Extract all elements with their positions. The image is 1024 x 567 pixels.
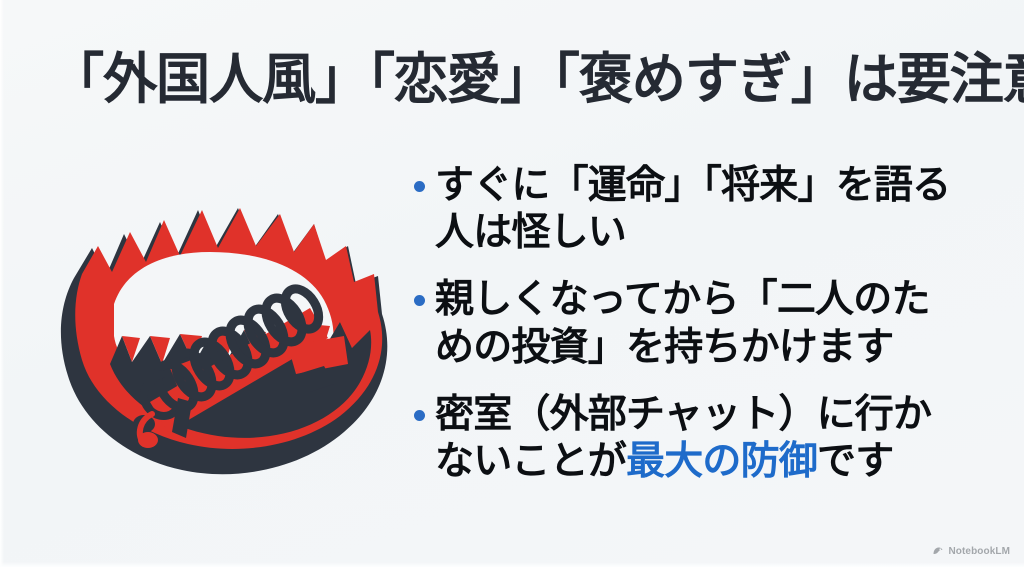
bear-trap-illustration xyxy=(52,188,402,482)
list-item: すぐに「運命」「将来」を語る人は怪しい xyxy=(414,162,1000,256)
bullet-text-1: すぐに「運命」「将来」を語る人は怪しい xyxy=(435,162,965,256)
bottom-edge-band xyxy=(0,562,1024,567)
slide-root: 「外国人風」「恋愛」「褒めすぎ」は要注意 xyxy=(0,0,1024,567)
bullet-dot-icon xyxy=(414,295,425,306)
bullet-highlight-text: 最大の防御 xyxy=(626,440,817,483)
bullet-text-3: 密室（外部チャット）に行かないことが最大の防御です xyxy=(435,391,965,485)
bullet-list: すぐに「運命」「将来」を語る人は怪しい 親しくなってから「二人のための投資」を持… xyxy=(414,162,1000,540)
notebooklm-logo-icon xyxy=(932,545,944,557)
bullet-dot-icon xyxy=(414,181,425,192)
watermark-label: NotebookLM xyxy=(948,546,1010,557)
page-title: 「外国人風」「恋愛」「褒めすぎ」は要注意 xyxy=(50,46,970,112)
bullet-dot-icon xyxy=(414,410,425,421)
list-item: 親しくなってから「二人のための投資」を持ちかけます xyxy=(414,276,1000,370)
bullet-text-2: 親しくなってから「二人のための投資」を持ちかけます xyxy=(435,276,965,370)
bear-trap-icon xyxy=(52,188,402,482)
left-edge-band xyxy=(0,0,4,567)
notebooklm-watermark: NotebookLM xyxy=(932,545,1010,557)
list-item: 密室（外部チャット）に行かないことが最大の防御です xyxy=(414,391,1000,485)
